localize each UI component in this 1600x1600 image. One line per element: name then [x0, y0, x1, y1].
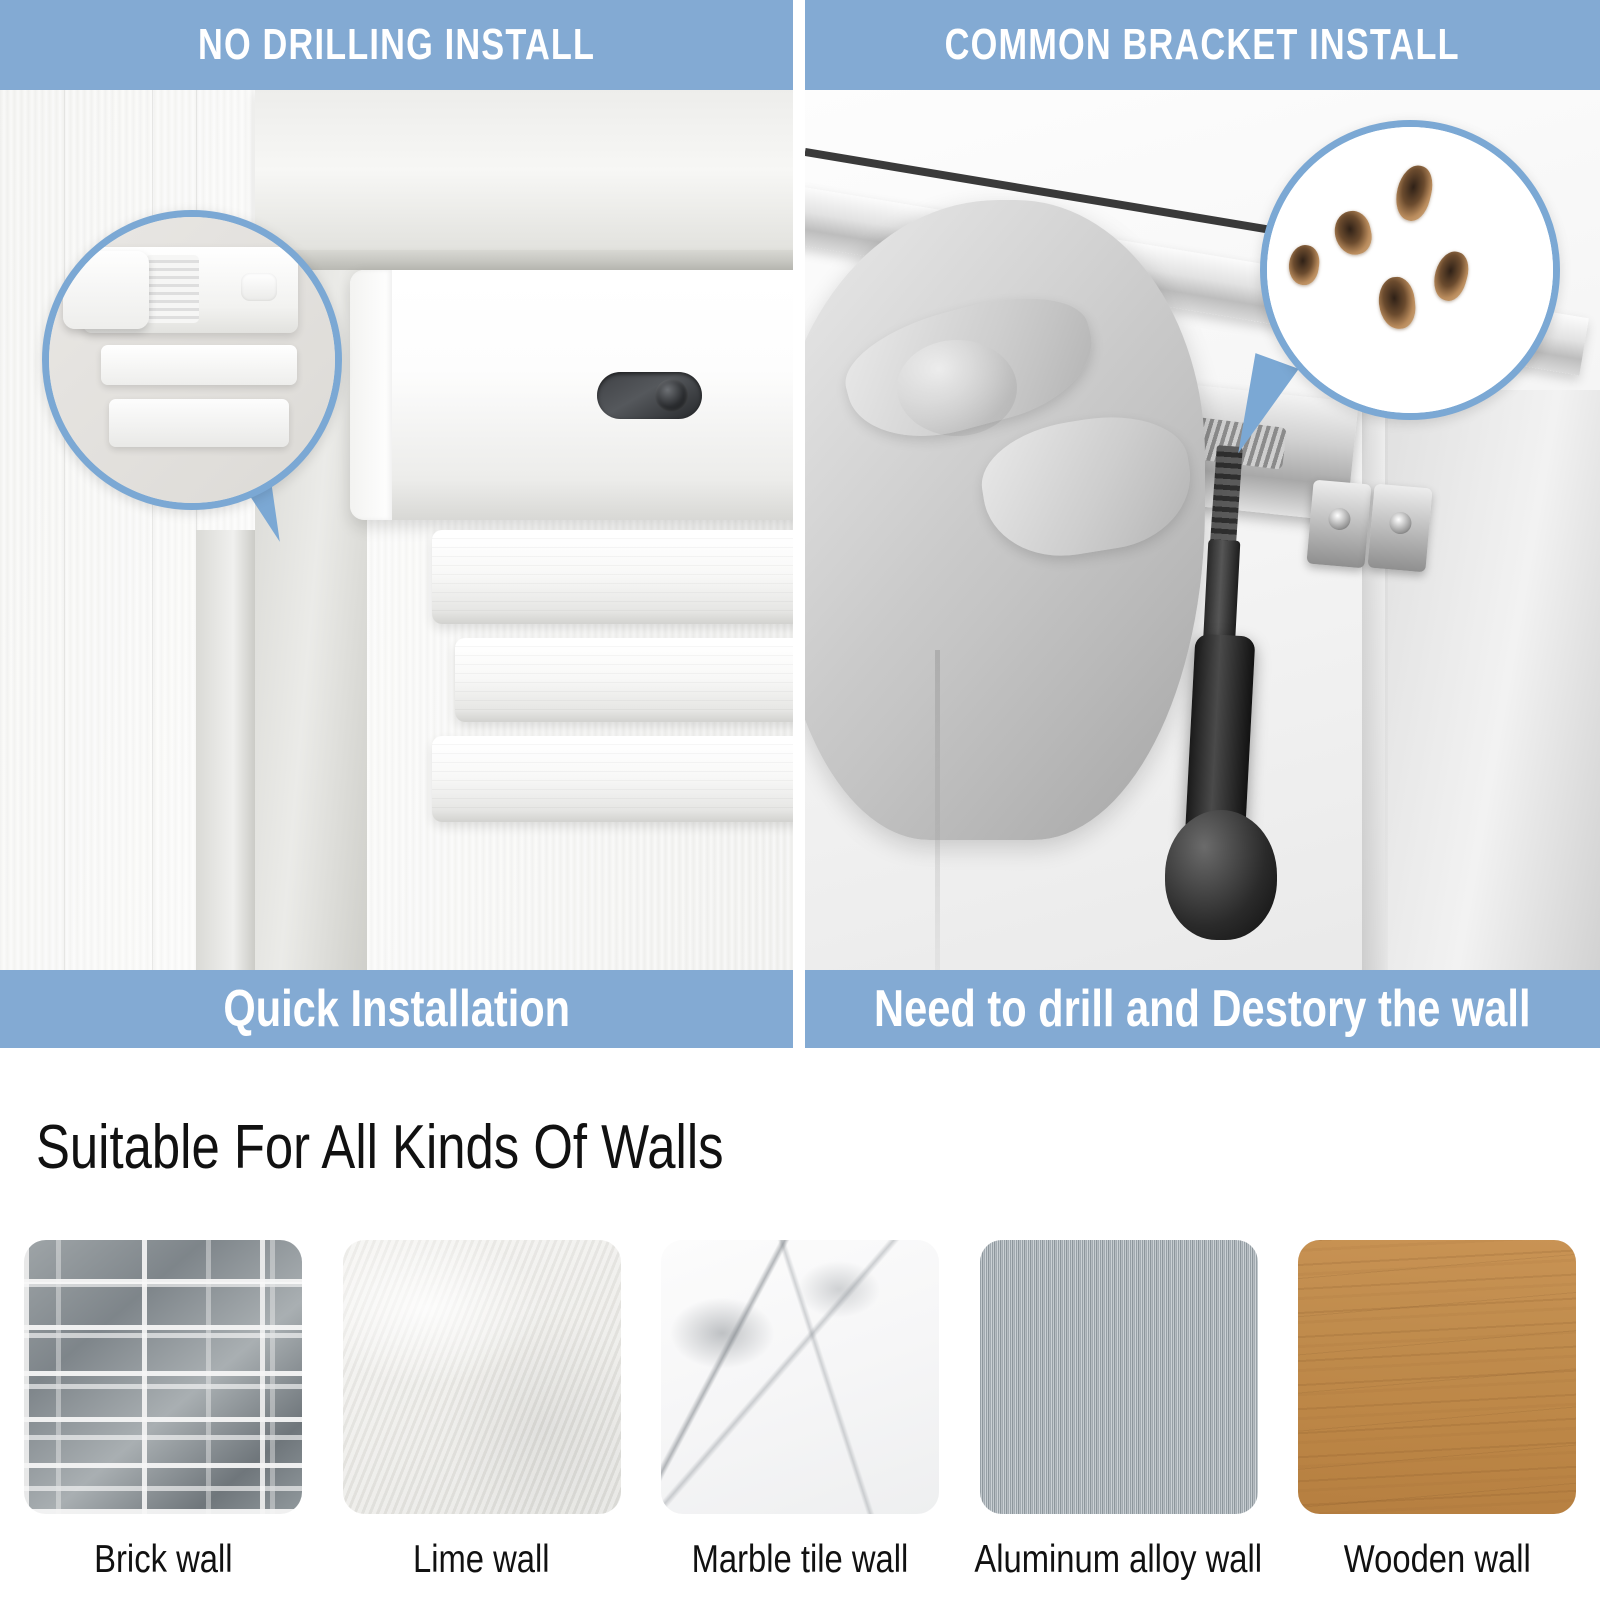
callout-drill-holes: [1260, 120, 1560, 420]
wall-swatch-wood: Wooden wall: [1296, 1240, 1578, 1582]
bracket-lug: [1367, 484, 1432, 573]
comparison-section: NO DRILLING INSTALL: [0, 0, 1600, 1048]
wood-texture: [1298, 1240, 1576, 1514]
wall-swatch-marble: Marble tile wall: [659, 1240, 941, 1582]
wall-label: Lime wall: [413, 1538, 550, 1582]
lime-texture: [343, 1240, 621, 1514]
right-title-band: COMMON BRACKET INSTALL: [805, 0, 1600, 90]
wall-swatch-brick: Brick wall: [22, 1240, 304, 1582]
bracket-lug: [1306, 480, 1371, 569]
right-title: COMMON BRACKET INSTALL: [945, 20, 1460, 70]
marble-texture: [661, 1240, 939, 1514]
side-wall: [1385, 390, 1600, 970]
brick-texture: [24, 1240, 302, 1514]
wall-label: Marble tile wall: [692, 1538, 909, 1582]
wall-label: Wooden wall: [1344, 1538, 1531, 1582]
wall-swatch-aluminum: Aluminum alloy wall: [978, 1240, 1260, 1582]
clip-slat-upper: [101, 345, 297, 385]
left-photo: [0, 90, 793, 970]
left-title-band: NO DRILLING INSTALL: [0, 0, 793, 90]
infographic-root: NO DRILLING INSTALL: [0, 0, 1600, 1600]
left-caption-band: Quick Installation: [0, 970, 793, 1048]
wall-types-heading: Suitable For All Kinds Of Walls: [36, 1112, 724, 1183]
corner-shadow: [1362, 390, 1388, 970]
aluminum-texture: [980, 1240, 1258, 1514]
wall-types-section: Suitable For All Kinds Of Walls Brick wa…: [0, 1048, 1600, 1600]
wall-label: Brick wall: [94, 1538, 232, 1582]
clip-jaw: [63, 251, 149, 329]
wall-label: Aluminum alloy wall: [975, 1538, 1263, 1582]
clip-slat-lower: [109, 399, 289, 447]
roller-blind-tube: [350, 270, 793, 520]
callout-no-drill-clip: [42, 210, 342, 510]
blind-slat: [432, 530, 793, 624]
beam-edge: [255, 250, 793, 270]
clip-release-button: [241, 273, 277, 301]
panel-common-bracket: COMMON BRACKET INSTALL: [805, 0, 1600, 1048]
roller-blind-end-cap: [350, 270, 392, 520]
left-caption: Quick Installation: [223, 979, 570, 1039]
clip-ratchet: [145, 255, 199, 323]
left-title: NO DRILLING INSTALL: [198, 20, 595, 70]
window-jamb: [196, 530, 258, 970]
screwdriver-handle: [1165, 810, 1277, 940]
blind-slat: [455, 638, 793, 722]
right-caption: Need to drill and Destory the wall: [874, 979, 1530, 1039]
window-header-beam: [255, 90, 793, 268]
blind-control-dial: [655, 379, 688, 412]
wall-swatch-lime: Lime wall: [341, 1240, 623, 1582]
wall-seam: [935, 650, 940, 970]
panel-no-drilling: NO DRILLING INSTALL: [0, 0, 793, 1048]
right-photo: [805, 90, 1600, 970]
knuckle: [897, 340, 1017, 436]
blind-slat: [432, 736, 793, 822]
wall-swatch-row: Brick wall Lime wall Marble tile wall Al…: [0, 1240, 1600, 1582]
right-caption-band: Need to drill and Destory the wall: [805, 970, 1600, 1048]
